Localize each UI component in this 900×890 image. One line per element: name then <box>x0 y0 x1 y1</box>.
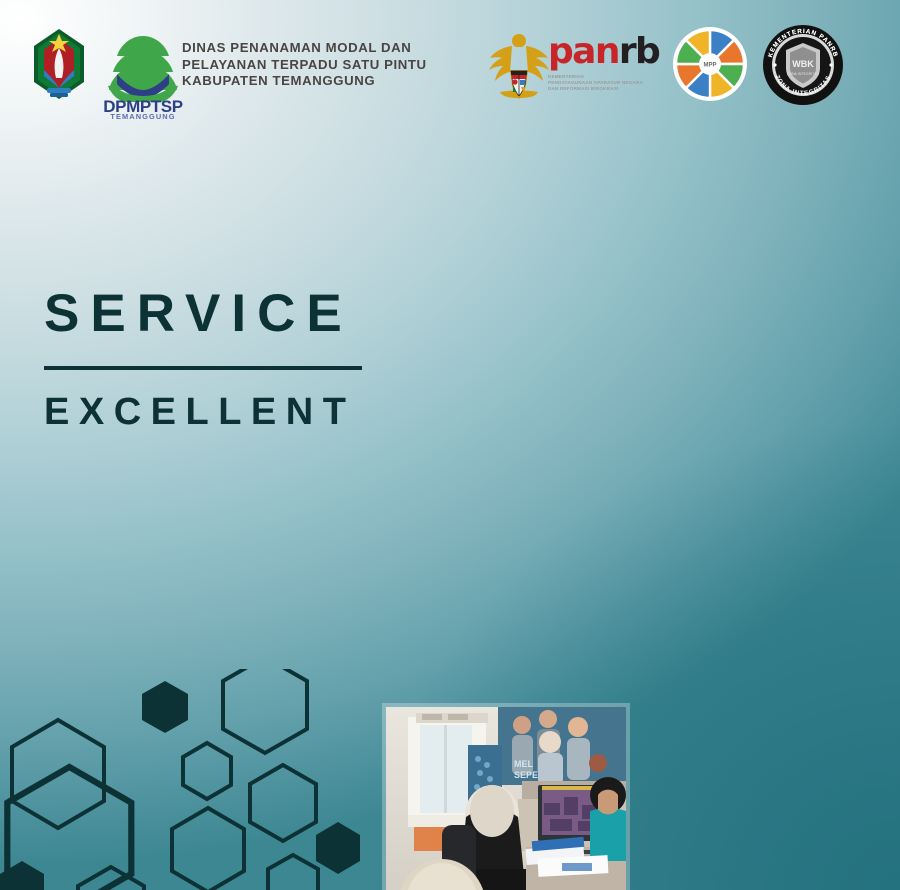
photo-helpdesk-service-counter-1: MEL SEPE <box>386 707 626 890</box>
organization-title: DINAS PENANAMAN MODAL DAN PELAYANAN TERP… <box>182 40 482 90</box>
header-bar: DPMPTSP TEMANGGUNG DINAS PENANAMAN MODAL… <box>0 0 900 124</box>
hero-title-block: SERVICE EXCELLENT <box>44 284 374 434</box>
svg-text:TEMANGGUNG: TEMANGGUNG <box>110 112 175 120</box>
org-title-line-3: KABUPATEN TEMANGGUNG <box>182 73 482 90</box>
svg-text:ZONA INTEGRITAS: ZONA INTEGRITAS <box>787 72 820 76</box>
hero-title-service: SERVICE <box>44 284 374 344</box>
temanggung-regency-emblem-logo <box>26 26 92 102</box>
panrb-word-pan: pan <box>548 31 619 72</box>
org-title-line-2: PELAYANAN TERPADU SATU PINTU <box>182 57 482 74</box>
svg-text:MEL: MEL <box>514 759 534 769</box>
wheel-center-label: MPP <box>703 63 716 69</box>
hero-title-excellent: EXCELLENT <box>44 390 374 434</box>
mal-pelayanan-publik-wheel-logo: MPP <box>672 26 748 102</box>
panrb-word-rb: rb <box>619 31 659 72</box>
hero-divider-rule <box>44 366 362 370</box>
hexagon-decoration-pattern <box>0 669 370 890</box>
poster-canvas: DPMPTSP TEMANGGUNG DINAS PENANAMAN MODAL… <box>0 0 900 890</box>
panrb-logo: panrb KEMENTERIAN PENDAYAGUNAAN APARATUR… <box>548 34 674 102</box>
svg-text:SEPE: SEPE <box>514 770 538 780</box>
dpmptsp-logo: DPMPTSP TEMANGGUNG <box>100 28 186 120</box>
zona-integritas-logo: WBK ZONA INTEGRITAS KEMENTERIAN PANRB KE… <box>762 24 844 106</box>
garuda-pancasila-logo <box>486 30 552 104</box>
zi-center-label: WBK <box>792 59 814 69</box>
org-title-line-1: DINAS PENANAMAN MODAL DAN <box>182 40 482 57</box>
panrb-subtitle: KEMENTERIAN PENDAYAGUNAAN APARATUR NEGAR… <box>548 74 674 92</box>
panrb-subtitle-line-3: DAN REFORMASI BIROKRASI <box>548 86 674 92</box>
